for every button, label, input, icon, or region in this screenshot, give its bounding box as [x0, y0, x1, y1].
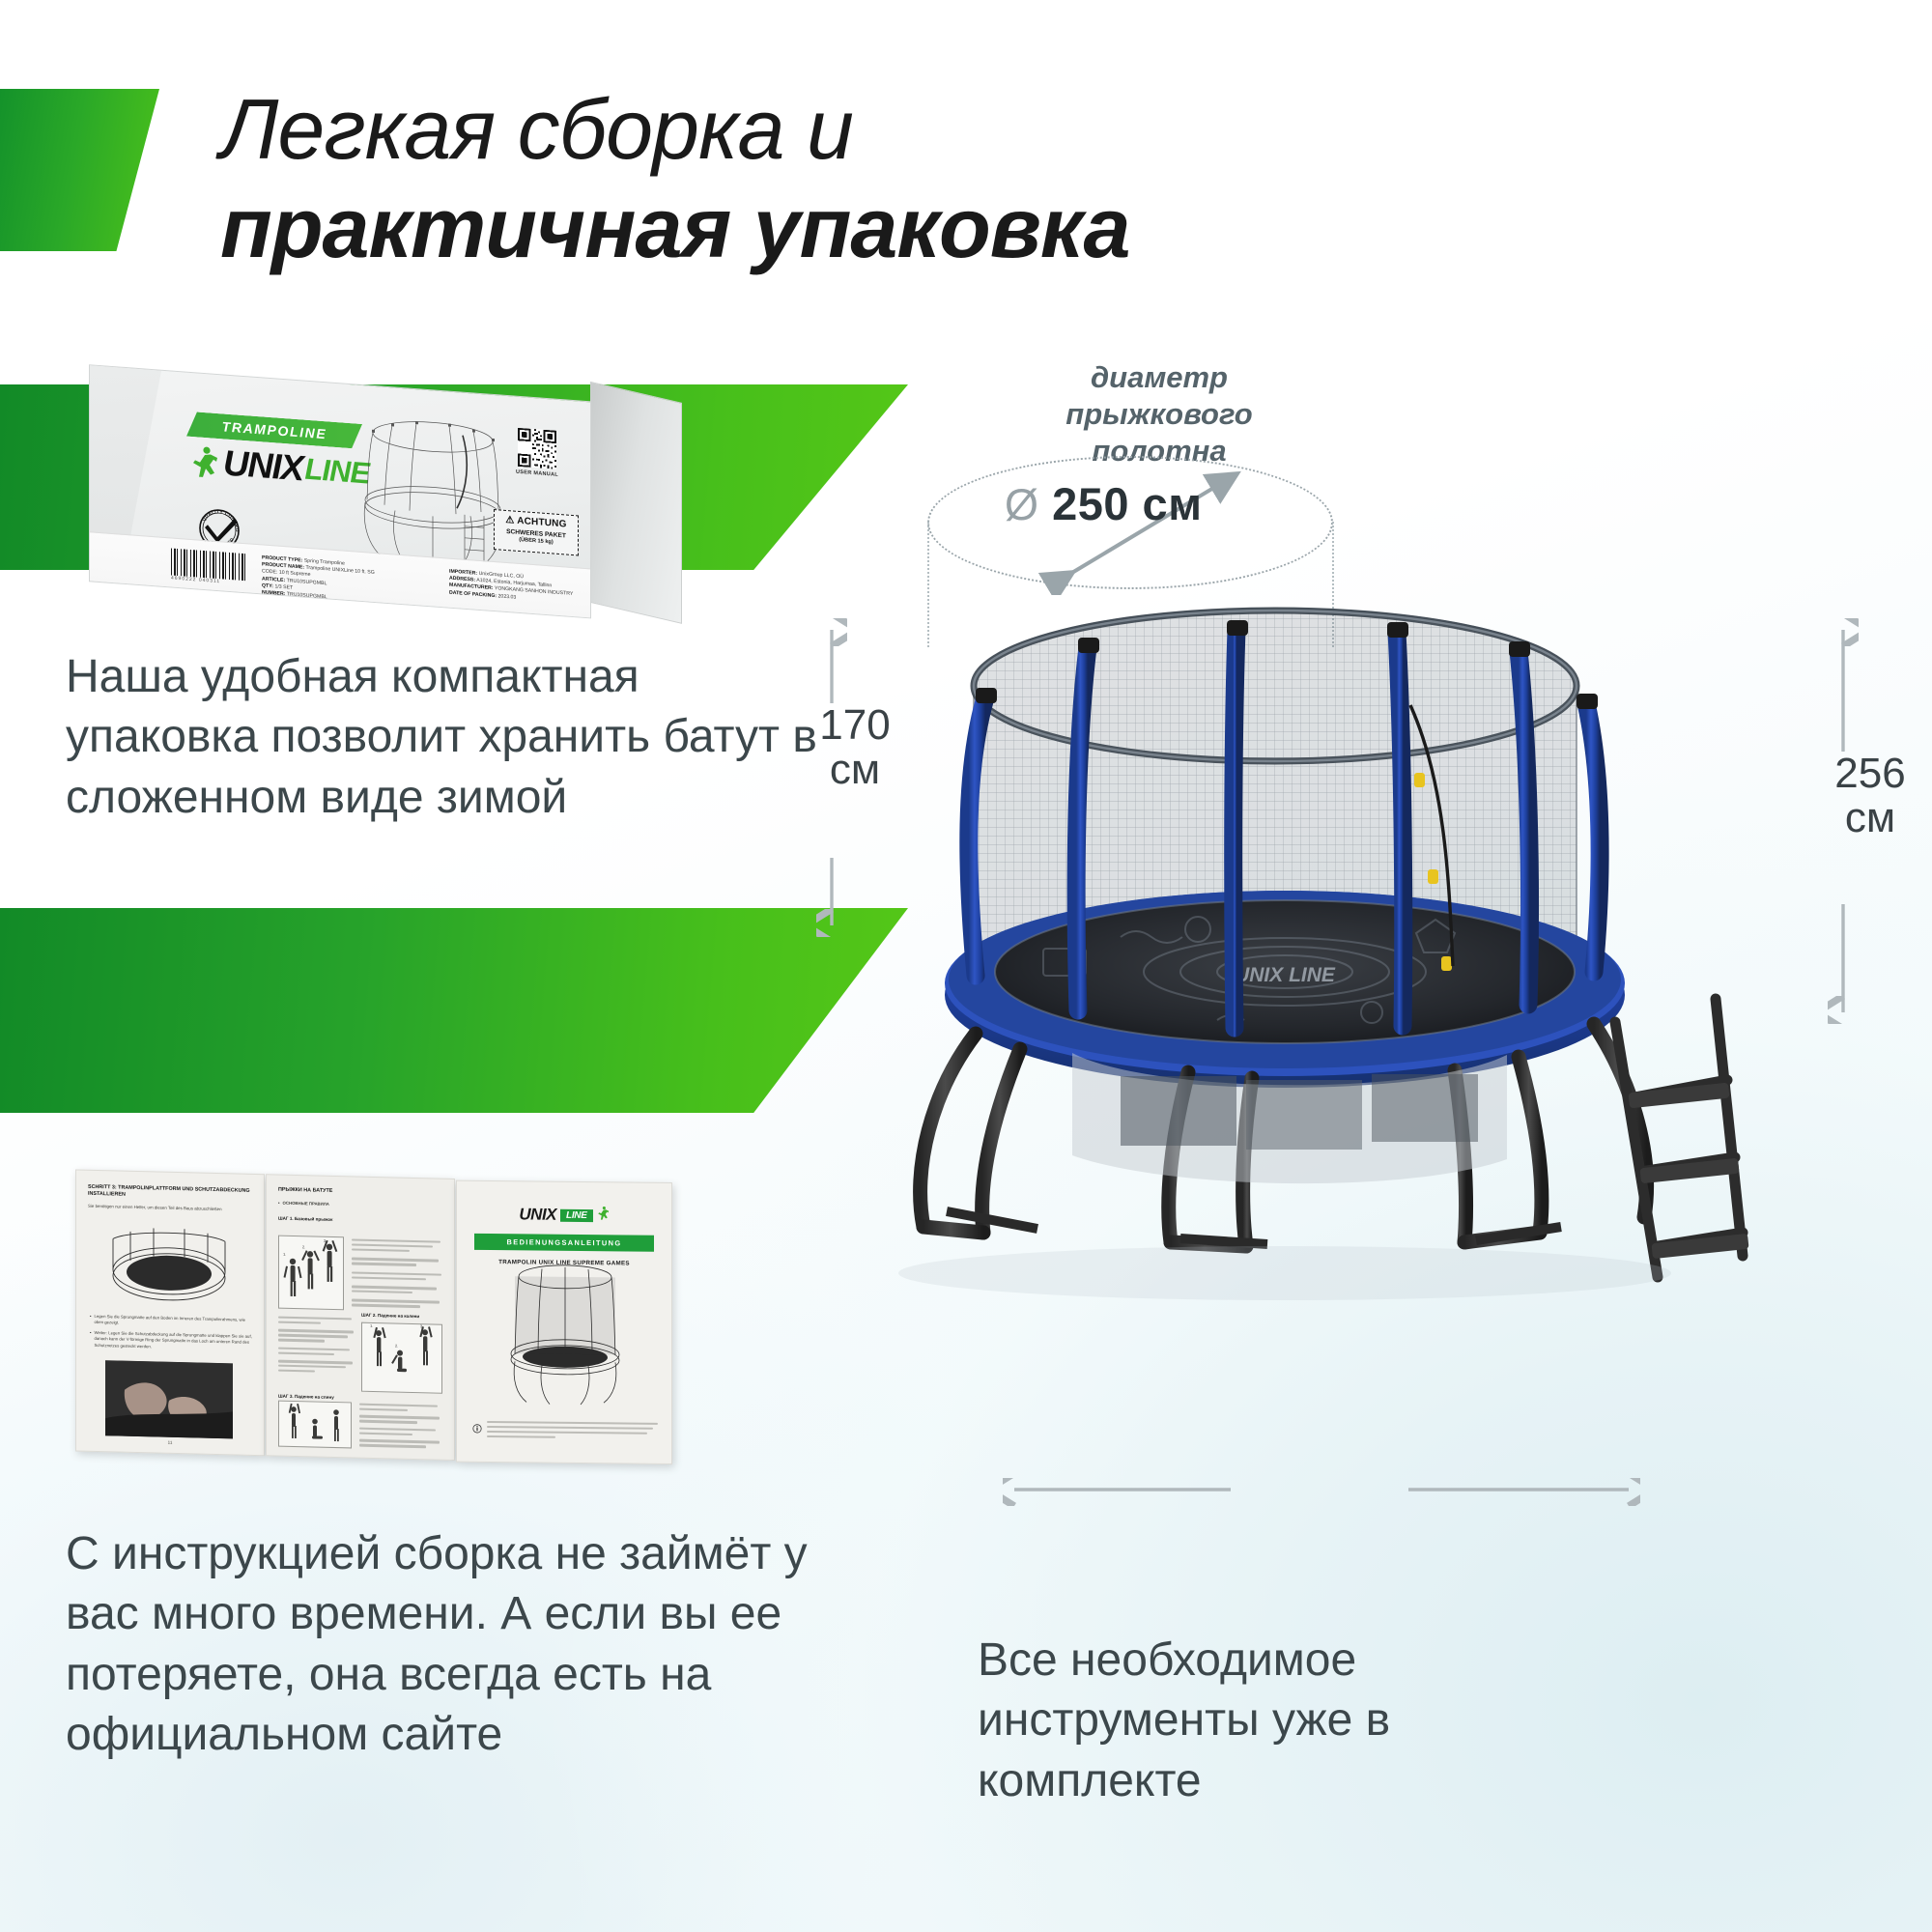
runner-icon	[597, 1206, 610, 1225]
manual-mid-fig2-label: ШАГ 2. Падение на колени	[361, 1313, 419, 1321]
box-trampoline-tag-label: TRAMPOLINE	[222, 418, 327, 441]
manual-cover-logo: UNIX LINE	[457, 1205, 671, 1226]
manual-page-middle: ПРЫЖКИ НА БАТУТЕ ОСНОВНЫЕ ПРАВИЛА ШАГ 1.…	[266, 1174, 455, 1461]
packaging-description: Наша удобная компактная упаковка позволи…	[66, 647, 829, 828]
manual-description: С инструкцией сборка не займёт у вас мно…	[66, 1524, 848, 1766]
trampoline-product-photo: UNIX LINE	[831, 357, 1932, 1613]
manual-mid-figure-1: 1. 2. 3.	[278, 1236, 344, 1311]
manual-cover-trampoline-drawing	[499, 1261, 631, 1406]
svg-text:2.: 2.	[302, 1244, 305, 1249]
manual-mid-fig1-label: ШАГ 1. Базовый прыжок	[278, 1215, 442, 1225]
box-side-panel	[590, 382, 682, 624]
manual-left-intro: Sie benötigen nur einen Helfer, um diese…	[88, 1203, 252, 1213]
box-brand-unix: UNIX	[223, 442, 302, 489]
warning-triangle-icon: ⚠	[505, 515, 514, 526]
manual-left-heading: SCHRITT 3: TRAMPOLINPLATTFORM UND SCHUTZ…	[88, 1184, 252, 1203]
product-box-photo: TRAMPOLINE UNIX LINE	[89, 364, 688, 636]
manual-left-bullet-2: Weiter: Legen Sie die Schutzabdeckung au…	[90, 1330, 252, 1352]
box-warning-label: ⚠ ACHTUNG SCHWERES PAKET (ÜBER 15 kg)	[494, 509, 579, 555]
manual-left-figure	[96, 1221, 242, 1312]
manual-mid-text-column-3	[359, 1404, 442, 1451]
height-total-label: 256 см	[1816, 752, 1924, 840]
manual-mid-figure-3	[278, 1401, 352, 1449]
manual-page-left: SCHRITT 3: TRAMPOLINPLATTFORM UND SCHUTZ…	[75, 1169, 265, 1456]
manual-brand-line: LINE	[560, 1208, 593, 1221]
height-net-label: 170 см	[802, 703, 908, 792]
box-unix-logo: UNIX LINE	[190, 440, 369, 495]
svg-text:3.: 3.	[420, 1323, 423, 1328]
manual-pages-photo: SCHRITT 3: TRAMPOLINPLATTFORM UND SCHUTZ…	[75, 1169, 672, 1465]
svg-text:UNIX LINE: UNIX LINE	[1235, 964, 1336, 986]
manual-mid-text-column-1	[352, 1238, 444, 1311]
svg-text:2.: 2.	[395, 1344, 398, 1349]
headline-line-1: Легкая сборка и	[220, 87, 1476, 172]
manual-mid-heading: ПРЫЖКИ НА БАТУТЕ	[278, 1187, 442, 1198]
manual-mid-figure-2: 1. 2. 3.	[361, 1322, 442, 1394]
manual-page-right: UNIX LINE BEDIENUNGSANLEITUNG TRAMPOLIN …	[456, 1180, 672, 1464]
manual-left-photo	[105, 1360, 233, 1438]
page-title: Легкая сборка и практичная упаковка	[220, 87, 1476, 270]
info-icon	[472, 1421, 482, 1440]
box-qr-label: USER MANUAL	[515, 469, 559, 478]
svg-text:QUALITY CONTROL: QUALITY CONTROL	[194, 502, 240, 532]
box-front-panel: TRAMPOLINE UNIX LINE	[89, 364, 591, 618]
manual-mid-text-column-2	[278, 1317, 355, 1377]
manual-left-bullet-1: Legen Sie die Sprungmatte auf den Boden …	[90, 1314, 252, 1330]
manual-brand-unix: UNIX	[519, 1205, 556, 1224]
manual-green-band	[0, 908, 908, 1113]
svg-text:1.: 1.	[283, 1252, 286, 1257]
svg-text:1.: 1.	[370, 1323, 373, 1328]
manual-cover-disclaimer	[472, 1421, 658, 1442]
manual-mid-subheading: ОСНОВНЫЕ ПРАВИЛА	[278, 1201, 442, 1211]
manual-cover-green-bar: BEDIENUNGSANLEITUNG	[474, 1234, 654, 1252]
runner-icon	[190, 444, 219, 479]
headline-line-2: практичная упаковка	[220, 185, 1476, 270]
width-total-arrow	[1003, 1478, 1640, 1511]
manual-left-page-number: 11	[76, 1437, 264, 1447]
tools-description: Все необходимое инструменты уже в компле…	[978, 1631, 1577, 1811]
qr-code-icon	[518, 428, 556, 469]
svg-text:3.: 3.	[324, 1238, 327, 1243]
box-qr-block: USER MANUAL	[515, 428, 559, 478]
